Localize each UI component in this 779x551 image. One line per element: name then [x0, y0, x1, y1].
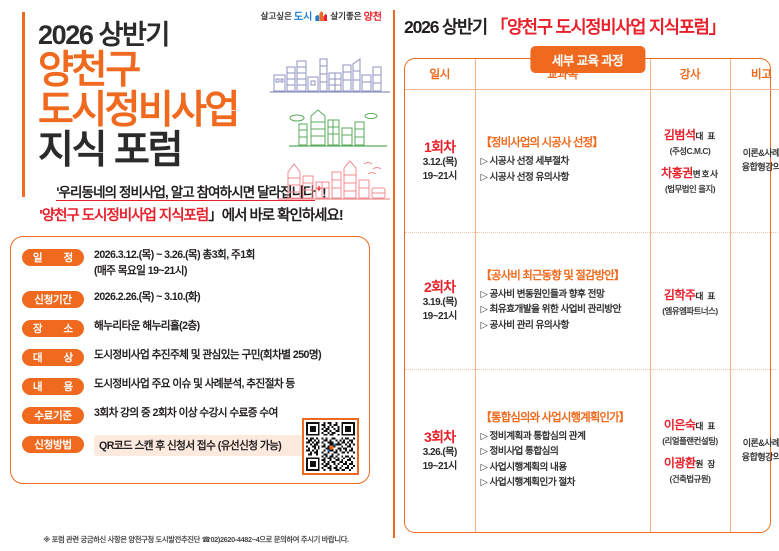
session-number-1: 1회차 [410, 139, 470, 157]
curriculum-table-wrapper: 세부 교육 과정 일시 교과목 강사 비고 1회차 [404, 58, 771, 533]
cell-subject-3: 【통합심의와 사업시행계획인가】 ▷ 정비계획과 통합심의 관계 ▷ 정비사업 … [475, 369, 650, 532]
session-time-1: 19~21시 [410, 170, 470, 184]
tagline-line-1-text: '우리동네의 정비사업, 알고 참여하시면 달라집니다 [56, 185, 314, 201]
hero-title: 2026 상반기 양천구 도시정비사업 지식 포럼 [0, 10, 380, 171]
instructor-block: 차홍권변호사 (법무법인 을지) [656, 164, 725, 195]
instructor-name-line: 이은숙대 표 [656, 416, 725, 434]
subject-item: ▷ 정비계획과 통합심의 관계 [481, 429, 645, 445]
cell-subject-1: 【정비사업의 시공사 선정】 ▷ 시공사 선정 세부절차 ▷ 시공사 선정 유의… [475, 89, 650, 233]
instructor-role: 변호사 [693, 169, 719, 179]
note-line: 이론&사례 [736, 437, 779, 451]
instructor-name: 차홍권 [661, 166, 693, 180]
instructor-role: 대 표 [696, 421, 717, 431]
instructor-name-line: 이광환원 장 [656, 454, 725, 472]
qr-code-image [306, 422, 355, 471]
cell-datetime-2: 2회차 3.19.(목) 19~21시 [405, 233, 475, 369]
tagline: '우리동네의 정비사업, 알고 참여하시면 달라집니다✦! '양천구 도시정비사… [10, 183, 372, 227]
subject-heading-2: 【공사비 최근동향 및 절감방안】 [481, 269, 645, 283]
instructor-org: (주성C.M.C) [656, 145, 725, 157]
cell-instructor-2: 김학주대 표 (엠유엠파트너스) [650, 233, 730, 369]
left-panel: 살고싶은 도시 살기좋은 양천 2026 상반기 양천구 도시정비사업 지식 포… [0, 0, 392, 551]
info-value-completion: 3회차 강의 중 2회차 이상 수강시 수료증 수여 [94, 406, 278, 422]
hero-line-2: 양천구 [38, 51, 380, 91]
session-number-2: 2회차 [410, 279, 470, 297]
info-label-completion: 수료기준 [22, 407, 84, 424]
instructor-name-line: 김범석대 표 [656, 126, 725, 144]
subject-heading-3: 【통합심의와 사업시행계획인가】 [481, 411, 645, 425]
footnote: ※ 포럼 관련 궁금하신 사항은 양천구청 도시발전추진단 ☎02)2620-4… [0, 535, 392, 545]
hero-line-1: 2026 상반기 [38, 20, 380, 50]
instructor-block: 이은숙대 표 (리얼플랜컨설팅) [656, 416, 725, 447]
instructor-name: 김학주 [664, 288, 696, 302]
qr-code[interactable] [302, 418, 359, 475]
cell-datetime-3: 3회차 3.26.(목) 19~21시 [405, 369, 475, 532]
right-title-quote-close: 」 [709, 17, 725, 37]
note-line: 융합형강의 [736, 451, 779, 465]
instructor-name: 이광환 [664, 456, 696, 470]
info-label-schedule: 일 정 [22, 249, 84, 266]
cell-note-3: 이론&사례 융합형강의 [730, 369, 779, 532]
instructor-org: (법무법인 을지) [656, 183, 725, 195]
info-row-target: 대 상 도시정비사업 추진주체 및 관심있는 구민(회차별 250명) [22, 348, 359, 366]
info-row-apply-period: 신청기간 2026.2.26.(목) ~ 3.10.(화) [22, 290, 359, 308]
instructor-name: 이은숙 [664, 418, 696, 432]
info-row-place: 장 소 해누리타운 해누리홀(2층) [22, 319, 359, 337]
subject-item: ▷ 최유효개발을 위한 사업비 관리방안 [481, 302, 645, 318]
right-panel-title: 2026 상반기 「양천구 도시정비사업 지식포럼」 [404, 14, 771, 39]
info-label-content: 내 용 [22, 378, 84, 395]
info-value-content: 도시정비사업 주요 이슈 및 사례분석, 추진절차 등 [94, 377, 295, 393]
subject-item: ▷ 사업시행계획의 내용 [481, 460, 645, 476]
cell-instructor-1: 김범석대 표 (주성C.M.C) 차홍권변호사 (법무법인 을지) [650, 89, 730, 233]
right-panel: 2026 상반기 「양천구 도시정비사업 지식포럼」 세부 교육 과정 일시 교… [392, 0, 779, 551]
curriculum-table: 일시 교과목 강사 비고 1회차 3.12.(목) 19~21시 [405, 59, 779, 532]
instructor-org: (건축법규원) [656, 473, 725, 485]
right-title-prefix: 2026 상반기 [404, 17, 491, 37]
tagline-line-2-tail: 」에서 바로 확인하세요! [208, 208, 342, 224]
subject-item: ▷ 정비사업 통합심의 [481, 444, 645, 460]
instructor-role: 대 표 [696, 131, 717, 141]
info-value-target: 도시정비사업 추진주체 및 관심있는 구민(회차별 250명) [94, 348, 321, 364]
info-value-schedule: 2026.3.12.(목) ~ 3.26.(목) 총3회, 주1회 (매주 목요… [94, 248, 255, 280]
instructor-role: 대 표 [696, 291, 717, 301]
instructor-org: (엠유엠파트너스) [656, 305, 725, 317]
hero-line-4: 지식 포럼 [38, 131, 380, 171]
info-box: 일 정 2026.3.12.(목) ~ 3.26.(목) 총3회, 주1회 (매… [10, 236, 370, 484]
cell-datetime-1: 1회차 3.12.(목) 19~21시 [405, 89, 475, 233]
note-line: 융합형강의 [736, 161, 779, 175]
cell-note-1: 이론&사례 융합형강의 [730, 89, 779, 233]
info-value-place: 해누리타운 해누리홀(2층) [94, 319, 200, 335]
table-row: 2회차 3.19.(목) 19~21시 【공사비 최근동향 및 절감방안】 ▷ … [405, 233, 779, 369]
instructor-block: 김범석대 표 (주성C.M.C) [656, 126, 725, 157]
info-row-schedule: 일 정 2026.3.12.(목) ~ 3.26.(목) 총3회, 주1회 (매… [22, 248, 359, 280]
right-title-quote-open: 「 [491, 17, 507, 37]
tagline-line-1-mark: ! [322, 185, 326, 200]
info-label-target: 대 상 [22, 349, 84, 366]
column-header-instructor: 강사 [650, 59, 730, 89]
right-title-highlight: 양천구 도시정비사업 지식포럼 [507, 17, 709, 37]
table-row: 3회차 3.26.(목) 19~21시 【통합심의와 사업시행계획인가】 ▷ 정… [405, 369, 779, 532]
info-label-apply-period: 신청기간 [22, 291, 84, 308]
instructor-org: (리얼플랜컨설팅) [656, 435, 725, 447]
cell-note-2 [730, 233, 779, 369]
instructor-name: 김범석 [664, 128, 696, 142]
table-row: 1회차 3.12.(목) 19~21시 【정비사업의 시공사 선정】 ▷ 시공사… [405, 89, 779, 233]
info-label-apply-method: 신청방법 [22, 436, 84, 453]
apply-method-text: QR코드 스캔 후 신청서 접수 (유선신청 가능) [99, 438, 281, 453]
cell-instructor-3: 이은숙대 표 (리얼플랜컨설팅) 이광환원 장 (건축법규원) [650, 369, 730, 532]
tagline-line-1: '우리동네의 정비사업, 알고 참여하시면 달라집니다✦! [10, 183, 372, 203]
info-row-content: 내 용 도시정비사업 주요 이슈 및 사례분석, 추진절차 등 [22, 377, 359, 395]
subject-item: ▷ 시공사 선정 유의사항 [481, 170, 645, 186]
cell-subject-2: 【공사비 최근동향 및 절감방안】 ▷ 공사비 변동원인들과 향후 전망 ▷ 최… [475, 233, 650, 369]
table-body: 1회차 3.12.(목) 19~21시 【정비사업의 시공사 선정】 ▷ 시공사… [405, 89, 779, 532]
session-date-3: 3.26.(목) [410, 446, 470, 460]
info-label-place: 장 소 [22, 320, 84, 337]
session-date-1: 3.12.(목) [410, 156, 470, 170]
note-line: 이론&사례 [736, 147, 779, 161]
subject-item: ▷ 시공사 선정 세부절차 [481, 154, 645, 170]
tagline-highlight: 양천구 도시정비사업 지식포럼 [42, 208, 208, 224]
column-header-note: 비고 [730, 59, 779, 89]
subject-item: ▷ 공사비 관리 유의사항 [481, 318, 645, 334]
column-header-datetime: 일시 [405, 59, 475, 89]
session-number-3: 3회차 [410, 429, 470, 447]
instructor-name-line: 김학주대 표 [656, 286, 725, 304]
curriculum-badge: 세부 교육 과정 [530, 46, 645, 73]
poster-root: 살고싶은 도시 살기좋은 양천 2026 상반기 양천구 도시정비사업 지식 포… [0, 0, 779, 551]
subject-heading-1: 【정비사업의 시공사 선정】 [481, 136, 645, 150]
hero-line-3: 도시정비사업 [38, 91, 380, 131]
info-value-schedule-main: 2026.3.12.(목) ~ 3.26.(목) 총3회, 주1회 [94, 249, 255, 261]
tagline-line-2: '양천구 도시정비사업 지식포럼」에서 바로 확인하세요! [10, 206, 372, 227]
session-date-2: 3.19.(목) [410, 296, 470, 310]
instructor-block: 이광환원 장 (건축법규원) [656, 454, 725, 485]
session-time-3: 19~21시 [410, 460, 470, 474]
instructor-name-line: 차홍권변호사 [656, 164, 725, 182]
subject-item: ▷ 공사비 변동원인들과 향후 전망 [481, 287, 645, 303]
info-value-schedule-sub: (매주 목요일 19~21시) [94, 264, 255, 280]
instructor-block: 김학주대 표 (엠유엠파트너스) [656, 286, 725, 317]
session-time-2: 19~21시 [410, 310, 470, 324]
info-value-apply-period: 2026.2.26.(목) ~ 3.10.(화) [94, 290, 200, 306]
instructor-role: 원 장 [696, 459, 717, 469]
subject-item: ▷ 사업시행계획인가 절차 [481, 475, 645, 491]
